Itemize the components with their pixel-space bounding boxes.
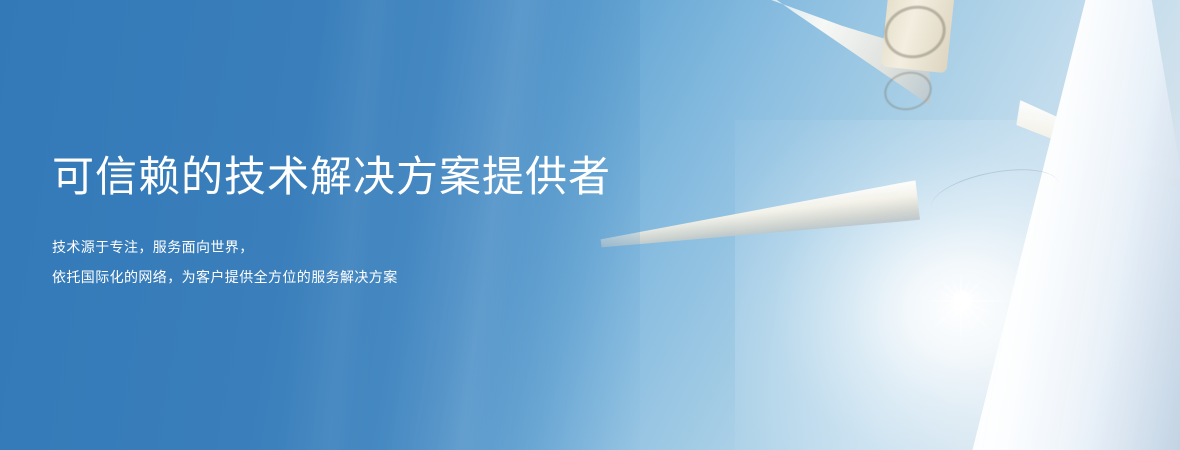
hero-subtitle-line-1: 技术源于专注，服务面向世界， — [52, 232, 398, 262]
hero-subtitle: 技术源于专注，服务面向世界， 依托国际化的网络，为客户提供全方位的服务解决方案 — [52, 232, 398, 292]
hero-copy: 可信赖的技术解决方案提供者 技术源于专注，服务面向世界， 依托国际化的网络，为客… — [52, 0, 612, 450]
wind-turbine-blade-left-icon — [598, 180, 920, 256]
hero-headline: 可信赖的技术解决方案提供者 — [52, 152, 611, 202]
sun-core — [951, 290, 973, 312]
hero-subtitle-line-2: 依托国际化的网络，为客户提供全方位的服务解决方案 — [52, 262, 398, 292]
hero-banner: 可信赖的技术解决方案提供者 技术源于专注，服务面向世界， 依托国际化的网络，为客… — [0, 0, 1180, 450]
sun-star-icon — [927, 266, 997, 336]
